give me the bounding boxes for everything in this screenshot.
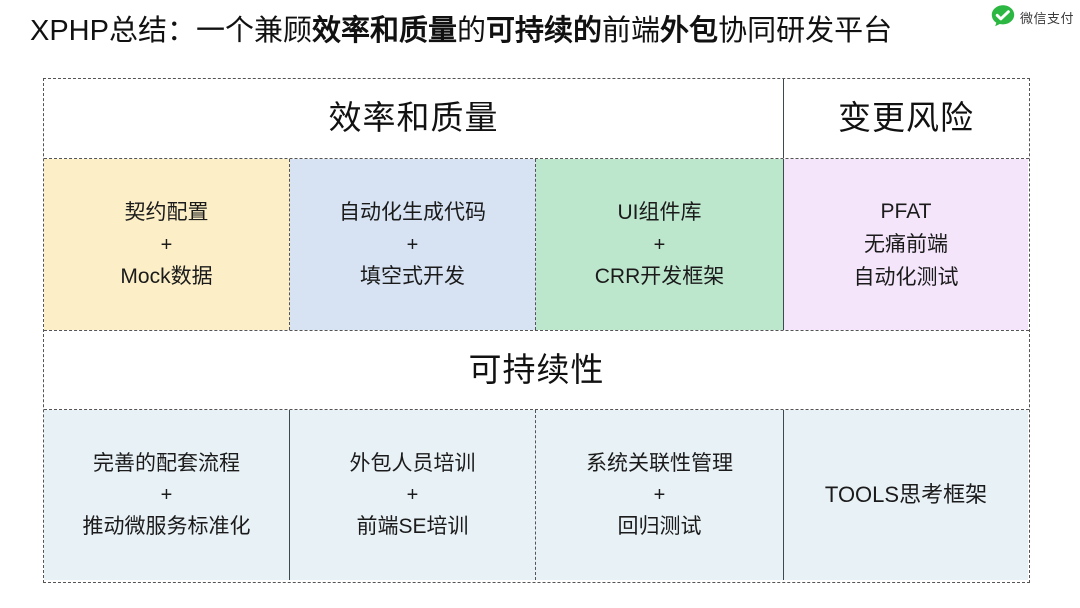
title-segment-plain-3: 前端 [602, 15, 660, 47]
cell-line: 系统关联性管理 [586, 447, 733, 480]
title-segment-plain-4: 协同研发平台 [718, 15, 892, 47]
wechat-pay-brand: 微信支付 [990, 4, 1074, 30]
cell-line: PFAT [881, 195, 932, 228]
table-feature-row: 契约配置 + Mock数据 自动化生成代码 + 填空式开发 UI组件库 + CR… [44, 159, 1029, 331]
table-cell-outsourcing-training: 外包人员培训 + 前端SE培训 [290, 410, 536, 580]
cell-line: 契约配置 [125, 196, 209, 229]
title-segment-bold-3: 外包 [660, 15, 718, 47]
table-cell-pfat: PFAT 无痛前端 自动化测试 [784, 159, 1028, 330]
wechat-pay-label: 微信支付 [1020, 8, 1074, 27]
header-cell-sustainability: 可持续性 [44, 331, 1029, 409]
cell-line: UI组件库 [618, 196, 702, 229]
cell-line: 回归测试 [618, 510, 702, 543]
cell-line: CRR开发框架 [595, 260, 725, 293]
wechat-pay-check-icon [990, 4, 1016, 30]
header-label-sustainability: 可持续性 [469, 352, 605, 388]
cell-line: + [654, 480, 666, 510]
cell-line: 完善的配套流程 [93, 447, 240, 480]
table-cell-tools-framework: TOOLS思考框架 [784, 410, 1028, 580]
cell-line: 自动化测试 [854, 261, 959, 294]
cell-line: Mock数据 [120, 260, 212, 293]
cell-line: 前端SE培训 [356, 510, 468, 543]
summary-table: 效率和质量 变更风险 契约配置 + Mock数据 自动化生成代码 + 填空式开发… [43, 78, 1030, 583]
title-segment-bold-2: 可持续的 [486, 15, 602, 47]
cell-line: 推动微服务标准化 [83, 510, 251, 543]
table-subheader-row: 可持续性 [44, 331, 1029, 410]
cell-line: + [407, 480, 419, 510]
header-label-efficiency-quality: 效率和质量 [329, 100, 499, 136]
table-cell-ui-component-library: UI组件库 + CRR开发框架 [536, 159, 784, 330]
cell-line: + [654, 230, 666, 260]
page-title: XPHP总结：一个兼顾效率和质量的可持续的前端外包协同研发平台 [30, 17, 892, 46]
cell-line: 自动化生成代码 [339, 196, 486, 229]
title-segment-plain-1: XPHP总结：一个兼顾 [30, 15, 312, 47]
title-segment-plain-2: 的 [457, 15, 486, 47]
cell-line: TOOLS思考框架 [825, 478, 987, 513]
table-cell-system-relation-mgmt: 系统关联性管理 + 回归测试 [536, 410, 784, 580]
page-title-bar: XPHP总结：一个兼顾效率和质量的可持续的前端外包协同研发平台 [0, 0, 1080, 62]
header-label-change-risk: 变更风险 [838, 100, 974, 136]
cell-line: 填空式开发 [360, 260, 465, 293]
table-sustainability-row: 完善的配套流程 + 推动微服务标准化 外包人员培训 + 前端SE培训 系统关联性… [44, 410, 1029, 580]
table-header-row: 效率和质量 变更风险 [44, 79, 1029, 159]
cell-line: + [161, 480, 173, 510]
cell-line: 外包人员培训 [350, 447, 476, 480]
table-cell-contract-config: 契约配置 + Mock数据 [44, 159, 290, 330]
header-cell-efficiency-quality: 效率和质量 [44, 79, 784, 158]
table-cell-auto-codegen: 自动化生成代码 + 填空式开发 [290, 159, 536, 330]
cell-line: + [407, 230, 419, 260]
cell-line: + [161, 230, 173, 260]
cell-line: 无痛前端 [864, 228, 948, 261]
title-segment-bold-1: 效率和质量 [312, 15, 457, 47]
header-cell-change-risk: 变更风险 [784, 79, 1028, 158]
table-cell-process-support: 完善的配套流程 + 推动微服务标准化 [44, 410, 290, 580]
